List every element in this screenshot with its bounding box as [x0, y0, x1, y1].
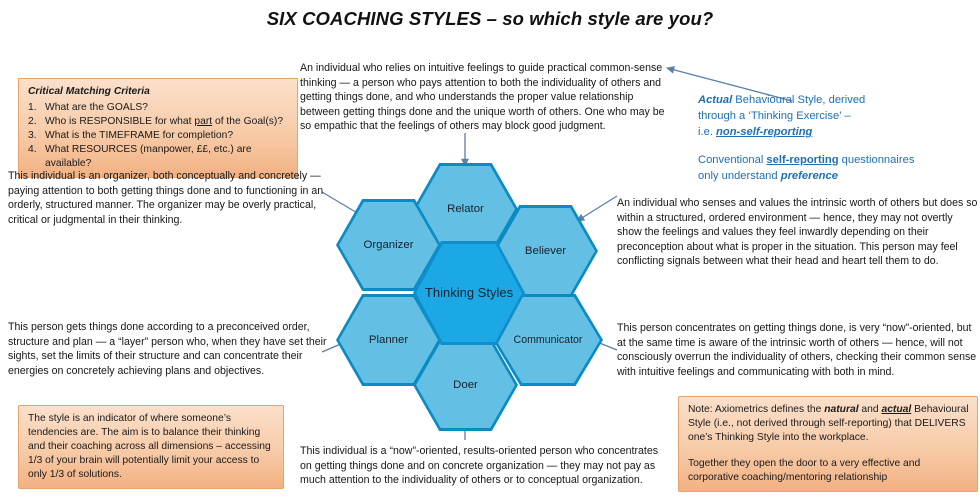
organizer-description: This individual is an organizer, both co…: [8, 169, 338, 227]
conventional-questionnaires-note: Conventional self-reporting questionnair…: [698, 152, 980, 184]
doer-description: This individual is a “now”-oriented, res…: [300, 444, 668, 488]
planner-description: This person gets things done according t…: [8, 320, 338, 378]
axiometrics-note-paragraph-1: Note: Axiometrics defines the natural an…: [688, 403, 969, 445]
hexagon-thinking-styles-label: Thinking Styles: [421, 285, 517, 301]
non-self-reporting-emphasis: non-self-reporting: [716, 126, 812, 138]
criteria-item: 1. What are the GOALS?: [28, 101, 289, 115]
slide-canvas: SIX COACHING STYLES – so which style are…: [0, 0, 980, 502]
actual-behavioural-style-note: Actual Behavioural Style, derived throug…: [698, 92, 980, 140]
self-reporting-emphasis: self-reporting: [766, 154, 838, 166]
hexagon-thinking-styles-inner: Thinking Styles: [416, 244, 522, 342]
note-spacer: [688, 445, 969, 457]
criteria-item-text: What RESOURCES (manpower, ££, etc.) are …: [45, 143, 289, 171]
criteria-item-number: 1.: [28, 101, 39, 115]
hexagon-organizer-label: Organizer: [359, 238, 417, 252]
criteria-item-number: 3.: [28, 129, 39, 143]
criteria-item-number: 4.: [28, 143, 39, 171]
hexagon-relator-label: Relator: [443, 202, 488, 216]
criteria-item: 4. What RESOURCES (manpower, ££, etc.) a…: [28, 143, 289, 171]
actual-emphasis: Actual: [698, 94, 732, 106]
axiometrics-note-paragraph-2: Together they open the door to a very ef…: [688, 457, 969, 485]
page-title: SIX COACHING STYLES – so which style are…: [0, 8, 980, 30]
hexagon-believer-label: Believer: [521, 244, 570, 258]
actual-emphasis-note: actual: [881, 404, 911, 415]
hexagon-communicator-label: Communicator: [510, 333, 587, 347]
relator-description: An individual who relies on intuitive fe…: [300, 61, 668, 134]
criteria-item: 2. Who is RESPONSIBLE for what part of t…: [28, 115, 289, 129]
believer-description: An individual who senses and values the …: [617, 196, 979, 269]
axiometrics-note-box: Note: Axiometrics defines the natural an…: [678, 396, 978, 492]
hexagon-doer-label: Doer: [449, 378, 482, 392]
hexagon-planner-label: Planner: [365, 333, 412, 347]
criteria-item-text: Who is RESPONSIBLE for what part of the …: [45, 115, 283, 129]
hexagon-doer-inner: Doer: [416, 342, 515, 428]
critical-matching-criteria-box: Critical Matching Criteria 1. What are t…: [18, 78, 298, 178]
criteria-item-text: What are the GOALS?: [45, 101, 148, 115]
criteria-item-number: 2.: [28, 115, 39, 129]
arrow-believer: [577, 196, 617, 221]
criteria-list: 1. What are the GOALS? 2. Who is RESPONS…: [28, 101, 289, 171]
style-indicator-text: The style is an indicator of where someo…: [28, 412, 275, 482]
criteria-item: 3. What is the TIMEFRAME for completion?: [28, 129, 289, 143]
communicator-description: This person concentrates on getting thin…: [617, 321, 979, 379]
preference-emphasis: preference: [781, 170, 838, 182]
style-indicator-box: The style is an indicator of where someo…: [18, 405, 284, 489]
natural-emphasis: natural: [824, 404, 858, 415]
criteria-item-text: What is the TIMEFRAME for completion?: [45, 129, 233, 143]
criteria-heading: Critical Matching Criteria: [28, 85, 289, 99]
